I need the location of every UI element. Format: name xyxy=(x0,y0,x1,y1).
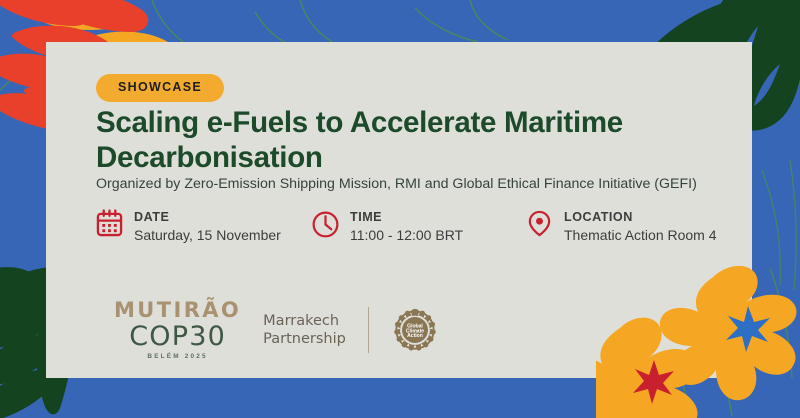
meta-label-date: DATE xyxy=(134,210,281,226)
meta-value-time: 11:00 - 12:00 BRT xyxy=(350,226,463,245)
organizers-text: Organized by Zero-Emission Shipping Miss… xyxy=(96,175,756,193)
location-pin-icon xyxy=(526,209,553,238)
meta-item-time: TIME 11:00 - 12:00 BRT xyxy=(312,209,463,245)
meta-label-time: TIME xyxy=(350,210,463,226)
mutirao-wordmark: MUTIRÃO xyxy=(114,300,241,321)
meta-label-location: LOCATION xyxy=(564,210,717,226)
event-banner: SHOWCASE Scaling e-Fuels to Accelerate M… xyxy=(0,0,800,418)
marrakech-partnership-logo: Marrakech Partnership xyxy=(263,312,346,348)
marrakech-line-1: Marrakech xyxy=(263,312,346,330)
title-line-2: Decarbonisation xyxy=(96,141,716,176)
title-line-1: Scaling e-Fuels to Accelerate Maritime xyxy=(96,106,716,141)
event-meta-row: DATE Saturday, 15 November TIME 11:00 - … xyxy=(96,209,756,255)
belem-year-label: BELÉM 2025 xyxy=(147,354,207,360)
meta-value-date: Saturday, 15 November xyxy=(134,226,281,245)
meta-item-location: LOCATION Thematic Action Room 4 xyxy=(526,209,717,245)
calendar-icon xyxy=(96,209,123,238)
global-climate-action-icon: Global Climate Action xyxy=(391,306,439,354)
meta-item-date: DATE Saturday, 15 November xyxy=(96,209,281,245)
gca-text-line-3: Action xyxy=(407,333,423,339)
event-card: SHOWCASE Scaling e-Fuels to Accelerate M… xyxy=(46,42,752,378)
cop30-wordmark: COP30 xyxy=(129,323,226,350)
meta-value-location: Thematic Action Room 4 xyxy=(564,226,717,245)
logo-divider xyxy=(368,307,369,353)
status-badge: SHOWCASE xyxy=(96,74,224,102)
logo-row: MUTIRÃO COP30 BELÉM 2025 Marrakech Partn… xyxy=(114,300,439,360)
marrakech-line-2: Partnership xyxy=(263,330,346,348)
page-title: Scaling e-Fuels to Accelerate Maritime D… xyxy=(96,106,716,176)
mutirao-cop30-logo: MUTIRÃO COP30 BELÉM 2025 xyxy=(114,300,241,360)
clock-icon xyxy=(312,209,339,238)
